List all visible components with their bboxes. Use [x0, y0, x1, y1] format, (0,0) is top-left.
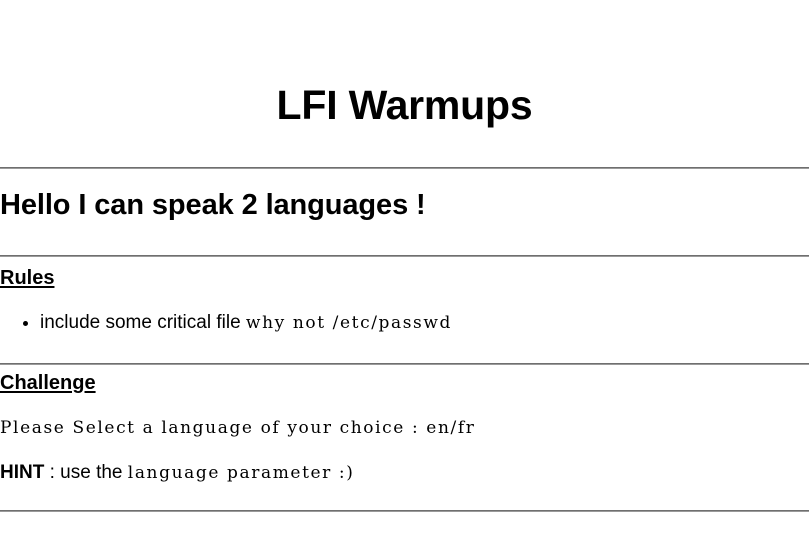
hint-line: HINT : use the language parameter :): [0, 461, 354, 485]
divider-after-challenge: [0, 510, 809, 512]
divider-after-greeting: [0, 255, 809, 257]
challenge-prompt: Please Select a language of your choice …: [0, 417, 475, 439]
greeting-heading: Hello I can speak 2 languages !: [0, 188, 426, 222]
rules-list: include some critical file why not /etc/…: [0, 311, 452, 335]
hint-label: HINT: [0, 462, 44, 483]
list-item: include some critical file why not /etc/…: [40, 311, 452, 335]
divider-after-rules: [0, 363, 809, 365]
page-root: LFI Warmups Hello I can speak 2 language…: [0, 0, 809, 555]
divider-after-title: [0, 167, 809, 169]
hint-text: : use the: [44, 462, 127, 483]
rule-item-code: why not /etc/passwd: [246, 313, 452, 333]
rule-item-text: include some critical file: [40, 312, 246, 333]
hint-code: language parameter :): [128, 463, 355, 483]
challenge-heading: Challenge: [0, 371, 96, 395]
rules-heading: Rules: [0, 266, 54, 290]
page-title: LFI Warmups: [0, 82, 809, 128]
